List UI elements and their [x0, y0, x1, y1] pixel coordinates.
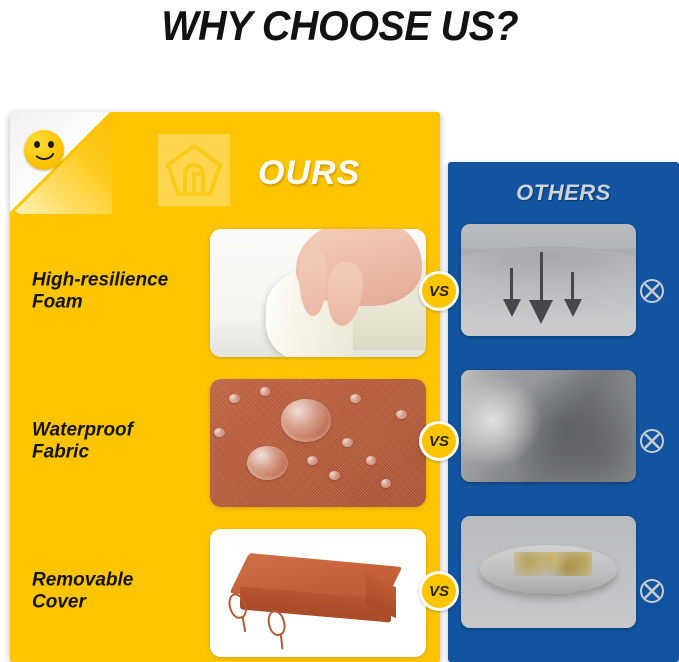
smiley-mouth — [32, 147, 56, 160]
vs-badge-3: VS — [419, 571, 459, 611]
terracotta-cushion-with-ties-photo — [210, 529, 426, 657]
water-droplet — [350, 394, 361, 403]
feature-label-line1: Removable — [32, 570, 212, 592]
water-droplet — [396, 410, 407, 419]
feature-label-foam: High-resilience Foam — [32, 270, 212, 315]
circle-x-icon — [638, 277, 666, 305]
circle-x-icon — [638, 427, 666, 455]
feature-label-cover: Removable Cover — [32, 570, 212, 615]
water-droplet — [247, 446, 288, 481]
feature-label-line1: High-resilience — [32, 270, 212, 292]
ours-panel: OURS High-resilience Foam — [10, 112, 440, 662]
vs-badge-1: VS — [419, 271, 459, 311]
down-arrow-icon — [571, 272, 574, 302]
wet-stained-gray-fabric-photo — [461, 370, 636, 482]
smiley-face-icon — [24, 130, 64, 170]
ours-row-foam: High-resilience Foam — [10, 217, 440, 367]
water-droplet — [281, 399, 331, 441]
water-droplet — [307, 456, 318, 465]
others-title: OTHERS — [516, 180, 611, 206]
ours-row-cover: Removable Cover — [10, 517, 440, 662]
water-droplet — [329, 471, 340, 480]
ours-card-fabric[interactable] — [210, 379, 426, 507]
stain-marks — [514, 552, 593, 577]
ours-title: OURS — [258, 154, 360, 193]
water-droplet — [342, 438, 353, 447]
sagging-gray-foam-with-arrows-photo — [461, 224, 636, 336]
water-beads-on-terracotta-fabric-photo — [210, 379, 426, 507]
water-droplet — [366, 456, 377, 465]
water-droplet — [260, 387, 271, 396]
hand-pressing-resilient-foam-photo — [210, 229, 426, 357]
pentagon-house-logo-icon — [158, 134, 230, 206]
feature-label-line2: Cover — [32, 592, 212, 614]
ours-row-list: High-resilience Foam Waterproof — [10, 217, 440, 662]
stained-gray-oval-cushion-photo — [461, 516, 636, 628]
ours-card-cover[interactable] — [210, 529, 426, 657]
down-arrow-icon — [510, 268, 513, 302]
comparison-stage: OTHERS — [0, 52, 679, 662]
feature-label-line2: Foam — [32, 292, 212, 314]
feature-label-line1: Waterproof — [32, 420, 212, 442]
page-title: WHY CHOOSE US? — [161, 2, 518, 50]
others-card-stained-cushion[interactable] — [461, 516, 636, 628]
ours-row-fabric: Waterproof Fabric — [10, 367, 440, 517]
water-droplet — [381, 479, 392, 488]
ours-card-foam[interactable] — [210, 229, 426, 357]
feature-label-line2: Fabric — [32, 442, 212, 464]
circle-x-icon — [638, 577, 666, 605]
others-card-sagging-foam[interactable] — [461, 224, 636, 336]
others-header: OTHERS — [448, 162, 679, 224]
page-header: WHY CHOOSE US? — [0, 0, 679, 52]
feature-label-fabric: Waterproof Fabric — [32, 420, 212, 465]
vs-badge-2: VS — [419, 421, 459, 461]
others-card-wet-fabric[interactable] — [461, 370, 636, 482]
water-droplet — [214, 428, 225, 437]
water-droplet — [229, 394, 240, 403]
down-arrow-icon — [540, 252, 543, 302]
